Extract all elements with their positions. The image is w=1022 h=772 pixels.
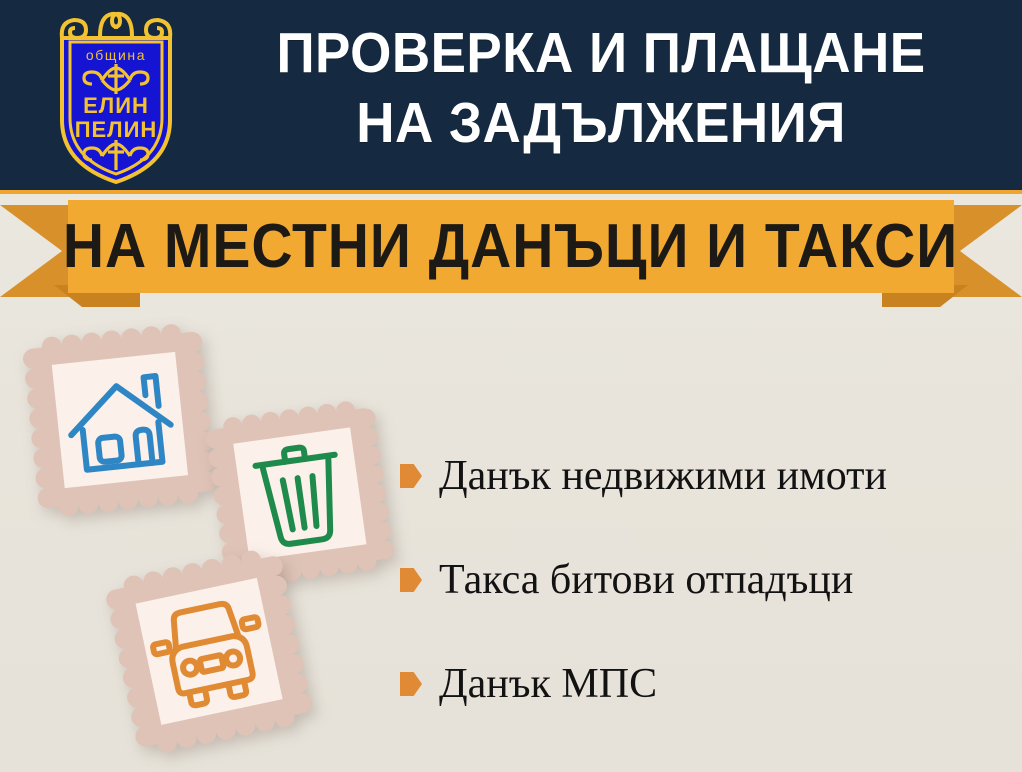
- header-banner: община ЕЛИН ПЕЛИН ПРОВЕРКА И ПЛАЩАНЕ НА …: [0, 0, 1022, 192]
- list-item-label: Такса битови отпадъци: [439, 557, 853, 603]
- bullet-arrow-icon: [400, 568, 422, 592]
- page-title-line2: НА ЗАДЪЛЖЕНИЯ: [215, 88, 987, 158]
- ribbon-text: НА МЕСТНИ ДАНЪЦИ И ТАКСИ: [63, 214, 958, 280]
- municipality-emblem: община ЕЛИН ПЕЛИН: [36, 8, 196, 186]
- page-title: ПРОВЕРКА И ПЛАЩАНЕ НА ЗАДЪЛЖЕНИЯ: [215, 18, 987, 158]
- list-item[interactable]: Данък МПС: [400, 632, 1014, 736]
- emblem-name-line1: ЕЛИН: [83, 93, 149, 118]
- ribbon-panel: НА МЕСТНИ ДАНЪЦИ И ТАКСИ: [68, 200, 954, 293]
- page-title-line1: ПРОВЕРКА И ПЛАЩАНЕ: [276, 21, 925, 85]
- list-item[interactable]: Данък недвижими имоти: [400, 424, 1014, 528]
- bullet-arrow-icon: [400, 672, 422, 696]
- poster-canvas: община ЕЛИН ПЕЛИН ПРОВЕРКА И ПЛАЩАНЕ НА …: [0, 0, 1022, 772]
- emblem-name-line2: ПЕЛИН: [75, 117, 158, 142]
- emblem-top-word: община: [86, 47, 146, 63]
- subtitle-ribbon: НА МЕСТНИ ДАНЪЦИ И ТАКСИ: [0, 192, 1022, 310]
- stamp-car: [98, 538, 334, 772]
- list-item[interactable]: Такса битови отпадъци: [400, 528, 1014, 632]
- tax-types-list: Данък недвижими имоти Такса битови отпад…: [400, 424, 1014, 736]
- bullet-arrow-icon: [400, 464, 422, 488]
- list-item-label: Данък недвижими имоти: [439, 453, 887, 499]
- list-item-label: Данък МПС: [439, 661, 657, 707]
- emblem-shield-icon: община ЕЛИН ПЕЛИН: [36, 8, 196, 186]
- stamp-house: [14, 312, 226, 530]
